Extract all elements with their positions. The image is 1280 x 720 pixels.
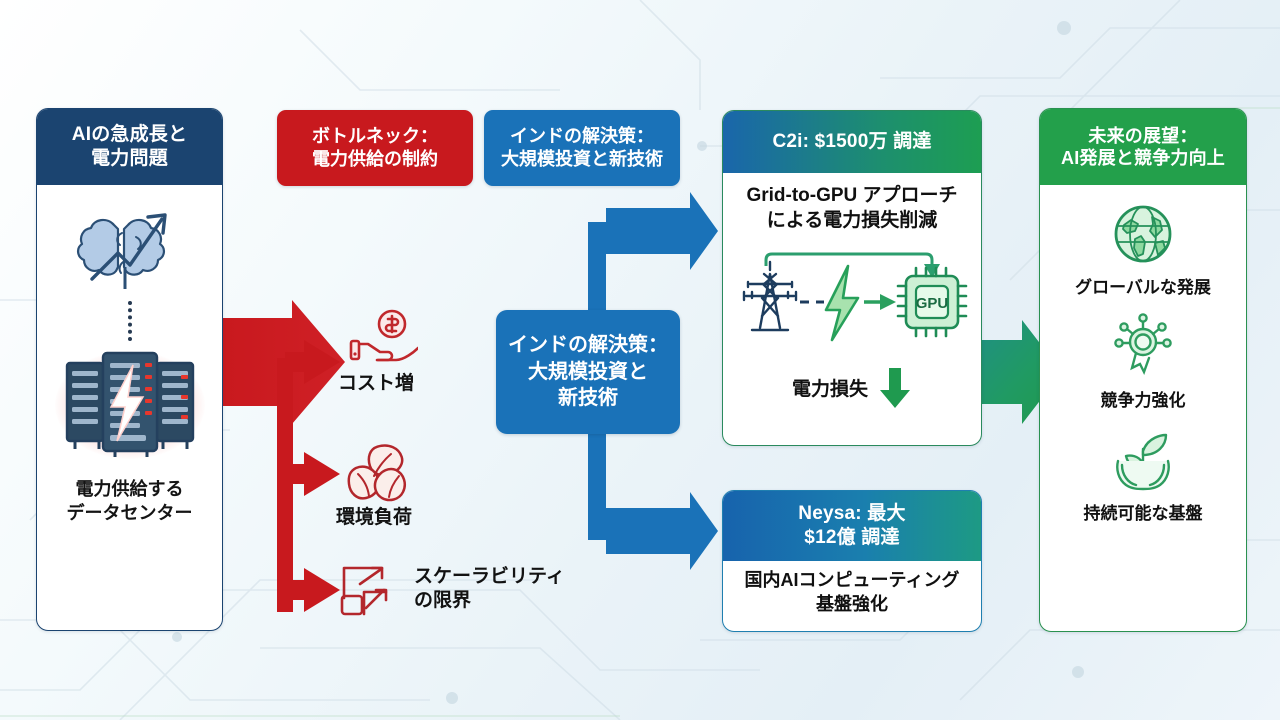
box-india-line3: 新技術 [508, 385, 668, 411]
card-neysa-subtitle-line1: 国内AIコンピューティング [745, 569, 960, 593]
future-item-global-label: グローバルな発展 [1075, 273, 1211, 298]
tag-bottleneck[interactable]: ボトルネック： 電力供給の制約 [277, 110, 473, 186]
card-neysa-subtitle-line2: 基盤強化 [745, 593, 960, 617]
issue-scalability-label-line2: の限界 [414, 589, 565, 613]
gpu-chip-icon: GPU [898, 268, 966, 336]
tag-india-line1: インドの解決策： [501, 125, 663, 148]
card-future-header-line1: 未来の展望： [1061, 125, 1225, 148]
card-c2i[interactable]: C2i: $1500万 調達 Grid-to-GPU アプローチ による電力損失… [722, 110, 982, 446]
future-item-competitiveness[interactable]: 競争力強化 [1101, 312, 1186, 411]
power-tower-icon [744, 262, 796, 330]
tag-india-solution[interactable]: インドの解決策： 大規模投資と新技術 [484, 110, 680, 186]
card-ai-body: 電力供給する データセンター [37, 185, 222, 526]
box-india-line1: インドの解決策： [508, 332, 668, 358]
brain-growth-icon [70, 203, 190, 299]
down-arrow-icon [878, 366, 912, 410]
card-future-body: グローバルな発展 [1040, 185, 1246, 524]
card-ai-header-line1: AIの急成長と [72, 123, 187, 147]
card-c2i-subtitle: Grid-to-GPU アプローチ による電力損失削減 [740, 183, 963, 234]
card-c2i-subtitle-line2: による電力損失削減 [746, 208, 957, 233]
power-loss-row: 電力損失 [723, 366, 981, 410]
issue-scalability[interactable]: スケーラビリティ の限界 [334, 558, 584, 620]
card-neysa-header: Neysa: 最大 $12億 調達 [723, 491, 981, 561]
feedback-loop-arrow-icon [766, 254, 940, 278]
leaves-icon [344, 442, 414, 504]
datacenter-caption-line1: 電力供給する [67, 477, 193, 501]
arrow-to-gpu-icon [864, 294, 896, 310]
card-future-header-line2: AI発展と競争力向上 [1061, 147, 1225, 170]
issue-scalability-label: スケーラビリティ の限界 [414, 565, 565, 614]
box-india-solution[interactable]: インドの解決策： 大規模投資と 新技術 [496, 310, 680, 434]
award-network-icon [1108, 312, 1178, 382]
card-c2i-header: C2i: $1500万 調達 [723, 111, 981, 173]
card-c2i-subtitle-line1: Grid-to-GPU アプローチ [746, 183, 957, 208]
future-item-sustainable-label: 持続可能な基盤 [1084, 499, 1203, 524]
grid-to-gpu-diagram: GPU [730, 240, 974, 364]
dotted-connector-icon [128, 301, 132, 341]
tag-india-line2: 大規模投資と新技術 [501, 148, 663, 171]
hands-plant-icon [1108, 425, 1178, 495]
card-neysa-header-line2: $12億 調達 [798, 526, 905, 550]
future-item-global[interactable]: グローバルな発展 [1075, 199, 1211, 298]
card-c2i-body: Grid-to-GPU アプローチ による電力損失削減 [723, 173, 981, 410]
card-neysa-header-line1: Neysa: 最大 [798, 502, 905, 526]
card-ai-header: AIの急成長と 電力問題 [37, 109, 222, 185]
issue-cost-label: コスト増 [338, 372, 414, 397]
card-ai-header-line2: 電力問題 [72, 147, 187, 171]
tag-bottleneck-line2: 電力供給の制約 [312, 148, 438, 171]
lightning-bolt-icon [826, 266, 858, 340]
gpu-chip-label: GPU [916, 295, 949, 312]
issue-environment-label: 環境負荷 [336, 506, 412, 531]
card-neysa[interactable]: Neysa: 最大 $12億 調達 国内AIコンピューティング 基盤強化 [722, 490, 982, 632]
issue-environment[interactable]: 環境負荷 [334, 442, 474, 531]
datacenter-server-icon [55, 345, 205, 465]
issue-cost[interactable]: コスト増 [334, 308, 474, 397]
datacenter-caption-line2: データセンター [67, 501, 193, 525]
datacenter-caption: 電力供給する データセンター [67, 477, 193, 526]
hand-coin-icon [348, 308, 418, 370]
tag-bottleneck-line1: ボトルネック： [312, 125, 438, 148]
card-future-outlook[interactable]: 未来の展望： AI発展と競争力向上 [1039, 108, 1247, 632]
globe-icon [1108, 199, 1178, 269]
issue-scalability-label-line1: スケーラビリティ [414, 565, 565, 589]
card-ai-growth[interactable]: AIの急成長と 電力問題 [36, 108, 223, 631]
power-loss-label: 電力損失 [792, 374, 868, 401]
card-neysa-subtitle: 国内AIコンピューティング 基盤強化 [741, 569, 964, 617]
issue-cost-label-line1: コスト増 [338, 372, 414, 397]
scalability-icon [334, 558, 404, 620]
card-neysa-body: 国内AIコンピューティング 基盤強化 [723, 561, 981, 617]
box-india-line2: 大規模投資と [508, 359, 668, 385]
future-item-sustainable[interactable]: 持続可能な基盤 [1084, 425, 1203, 524]
future-item-competitiveness-label: 競争力強化 [1101, 386, 1186, 411]
card-future-header: 未来の展望： AI発展と競争力向上 [1040, 109, 1246, 185]
issue-environment-label-line1: 環境負荷 [336, 506, 412, 531]
